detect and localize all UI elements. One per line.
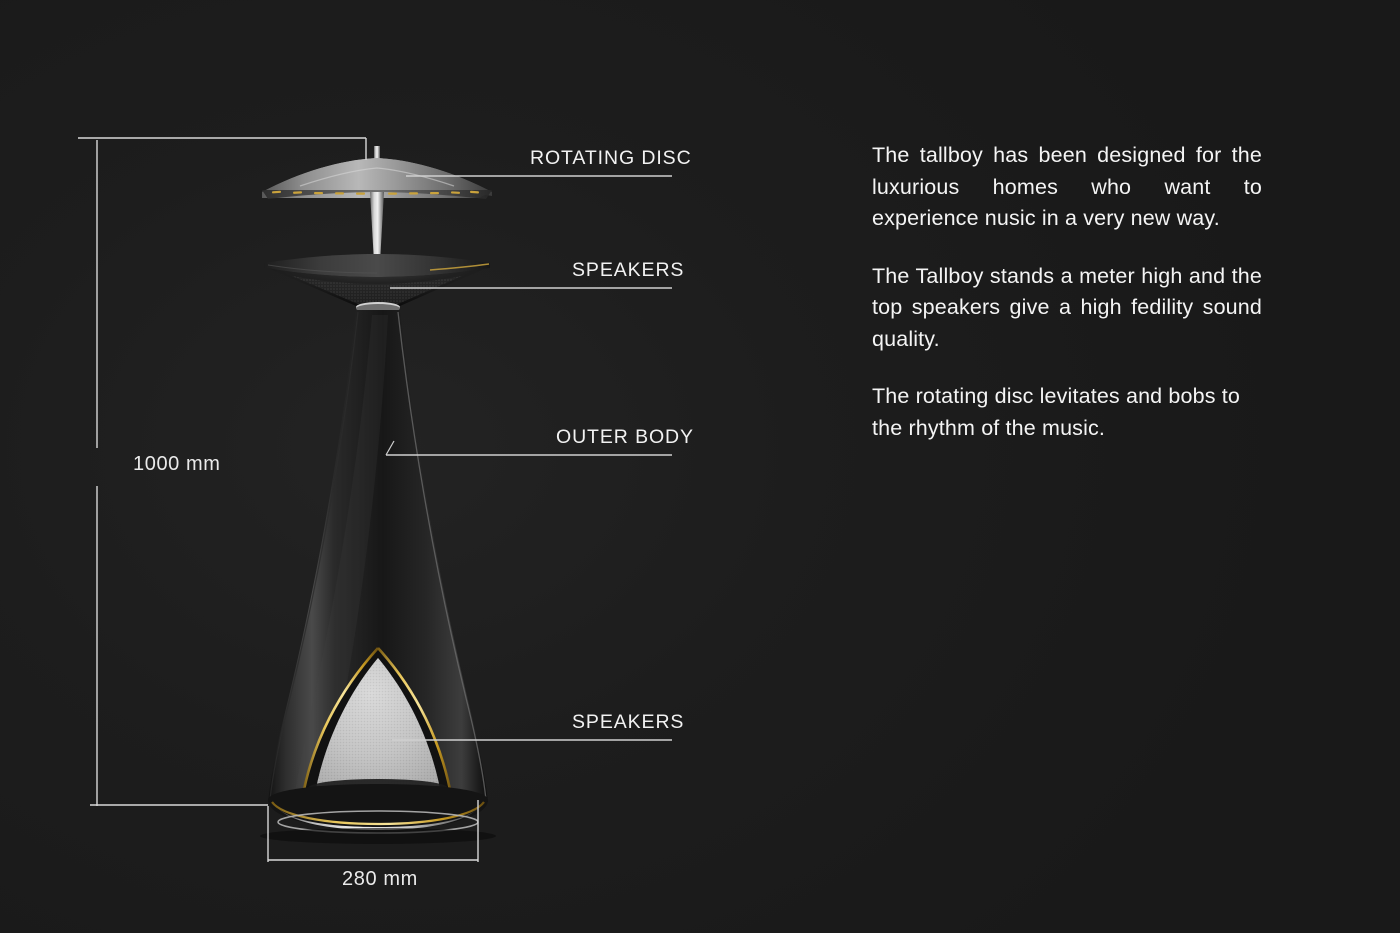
top-speaker-funnel	[264, 254, 490, 313]
description-paragraph-2: The Tallboy stands a meter high and the …	[872, 261, 1262, 356]
product-render: ROTATING DISC SPEAKERS OUTER BODY SPEAKE…	[0, 0, 760, 933]
callout-rotating-disc: ROTATING DISC	[530, 147, 692, 170]
spindle	[370, 192, 384, 262]
description-paragraph-3: The rotating disc levitates and bobs to …	[872, 381, 1262, 444]
rotating-disc	[262, 146, 492, 199]
callout-bottom-speakers: SPEAKERS	[572, 711, 684, 734]
dimension-height-label: 1000 mm	[133, 453, 221, 476]
description-paragraph-1: The tallboy has been designed for the lu…	[872, 140, 1262, 235]
description-panel: The tallboy has been designed for the lu…	[872, 140, 1262, 444]
tallboy-speaker-illustration	[0, 0, 760, 933]
callout-top-speakers: SPEAKERS	[572, 259, 684, 282]
base-ring	[260, 784, 496, 844]
dimension-width-label: 280 mm	[342, 868, 418, 891]
callout-outer-body: OUTER BODY	[556, 426, 694, 449]
